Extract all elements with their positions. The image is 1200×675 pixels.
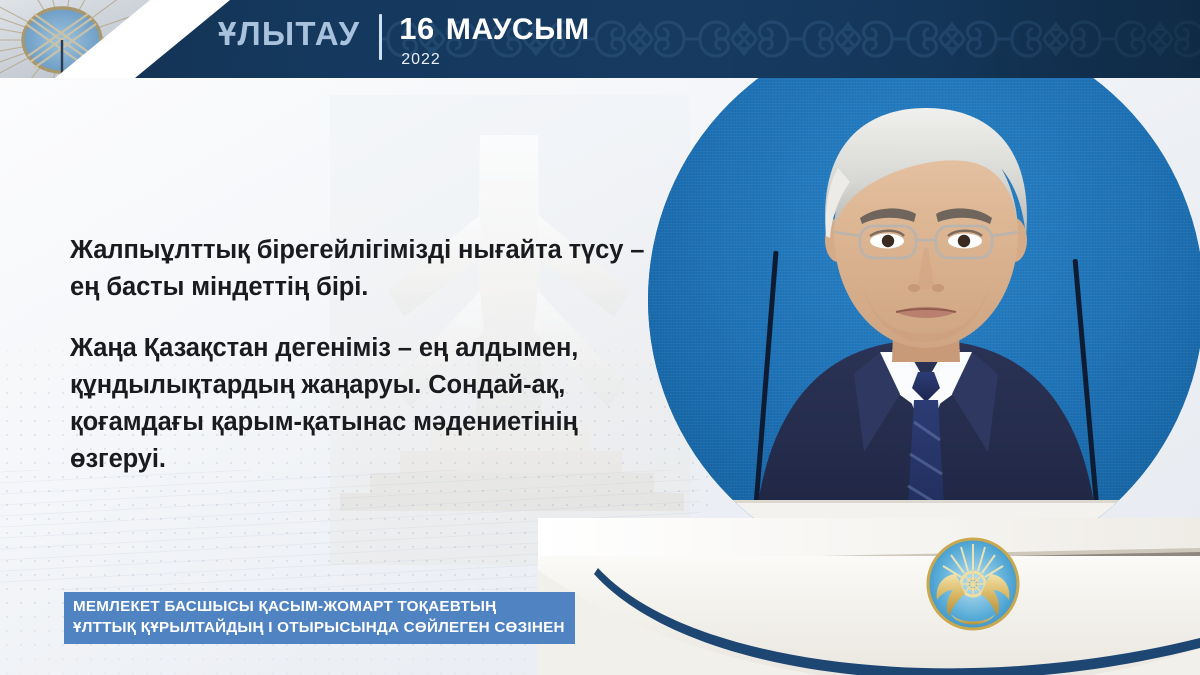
portrait-circle — [648, 22, 1200, 578]
header-date-group: 16МАУСЫМ 2022 — [399, 13, 590, 69]
quote-paragraph-2: Жаңа Қазақстан дегеніміз – ең алдымен, қ… — [70, 330, 660, 477]
header-year: 2022 — [399, 51, 590, 69]
kazakhstan-state-emblem — [925, 536, 1021, 632]
quote-block: Жалпыұлттық бірегейлігімізді нығайта түс… — [70, 232, 660, 477]
caption-line-1: МЕМЛЕКЕТ БАСШЫСЫ ҚАСЫМ-ЖОМАРТ ТОҚАЕВТЫҢ — [73, 597, 565, 618]
header-title-group: ҰЛЫТАУ 16МАУСЫМ 2022 — [218, 0, 590, 78]
caption-line-2: ҰЛТТЫҚ ҚҰРЫЛТАЙДЫҢ I ОТЫРЫСЫНДА СӨЙЛЕГЕН… — [73, 618, 565, 639]
header-month: МАУСЫМ — [446, 13, 590, 46]
president-portrait — [648, 22, 1200, 578]
header-bar: ҰЛЫТАУ 16МАУСЫМ 2022 — [0, 0, 1200, 78]
header-day: 16 — [399, 11, 435, 46]
podium — [538, 498, 1200, 675]
header-divider-icon — [379, 14, 382, 60]
slide-canvas: ҰЛЫТАУ 16МАУСЫМ 2022 Жалпыұлттық бірегей… — [0, 0, 1200, 675]
header-brand-ulytau: ҰЛЫТАУ — [218, 17, 360, 50]
header-right-fade — [940, 0, 1200, 78]
source-caption: МЕМЛЕКЕТ БАСШЫСЫ ҚАСЫМ-ЖОМАРТ ТОҚАЕВТЫҢ … — [64, 592, 575, 644]
quote-paragraph-1: Жалпыұлттық бірегейлігімізді нығайта түс… — [70, 232, 660, 305]
header-date-line: 16МАУСЫМ — [399, 13, 590, 46]
